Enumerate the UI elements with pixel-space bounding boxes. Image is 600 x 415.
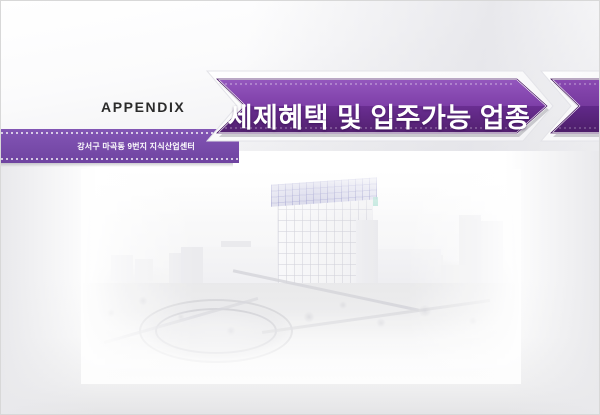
- banner-title-text: 세제혜택 및 입주가능 업종: [219, 80, 539, 150]
- slide-canvas: 강서구 마곡동 9번지 지식산업센터 APPENDIX: [0, 0, 600, 415]
- photo-edge-fade-mask: [81, 169, 521, 384]
- photo-inner: [81, 169, 521, 384]
- building-rendering-photo: [81, 169, 521, 384]
